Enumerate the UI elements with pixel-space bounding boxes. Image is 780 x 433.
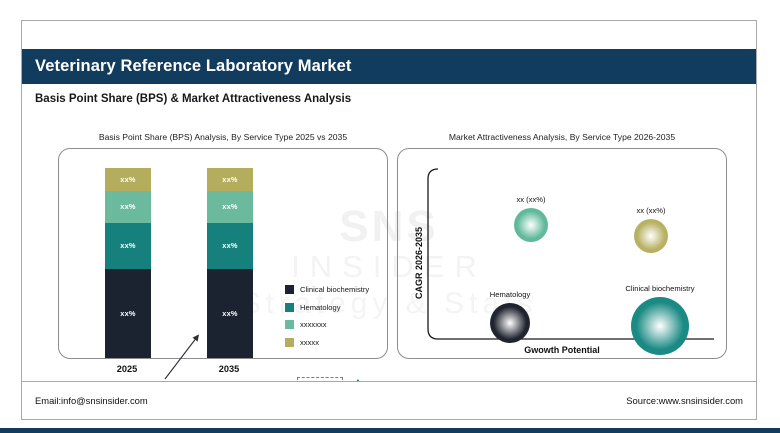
legend-label: Hematology <box>300 303 341 312</box>
legend-item[interactable]: xxxxxxx <box>285 320 369 329</box>
bubble-xxx-olive[interactable] <box>634 219 668 253</box>
left-chart-heading: Basis Point Share (BPS) Analysis, By Ser… <box>58 132 388 142</box>
bubble-xxx-green[interactable] <box>514 208 548 242</box>
y-axis-label: CAGR 2026-2035 <box>414 227 424 299</box>
bubble-label: Clinical biochemistry <box>625 284 694 293</box>
legend-item[interactable]: Hematology <box>285 303 369 312</box>
legend-swatch-icon <box>285 303 294 312</box>
bubble-hematology[interactable] <box>490 303 530 343</box>
legend-item[interactable]: Clinical biochemistry <box>285 285 369 294</box>
bar-segment: xx% <box>105 168 151 191</box>
bar-segment: xx% <box>105 223 151 269</box>
bar-segment: xx% <box>207 269 253 358</box>
footer-bar: Email:info@snsinsider.com Source:www.sns… <box>22 381 756 419</box>
bubble-chart: CAGR 2026-2035 Gwowth Potential xx (xx%)… <box>398 149 726 358</box>
attractiveness-chart-panel: CAGR 2026-2035 Gwowth Potential xx (xx%)… <box>397 148 727 359</box>
bar-segment: xx% <box>105 269 151 358</box>
bps-chart-panel: xx%xx%xx%xx% xx%xx%xx%xx% Clinical bioch… <box>58 148 388 359</box>
page-title: Veterinary Reference Laboratory Market <box>35 57 352 76</box>
page-subtitle: Basis Point Share (BPS) & Market Attract… <box>35 93 351 105</box>
legend-swatch-icon <box>285 338 294 347</box>
footer-email: Email:info@snsinsider.com <box>35 395 148 406</box>
bubble-label: xx (xx%) <box>516 195 545 204</box>
poster-frame: SNS INSIDER Strategy & Stats Veterinary … <box>21 20 757 420</box>
bar-segment: xx% <box>207 191 253 223</box>
legend-swatch-icon <box>285 320 294 329</box>
bar-segment: xx% <box>105 191 151 223</box>
title-bar: Veterinary Reference Laboratory Market <box>22 49 756 84</box>
bar-segment: xx% <box>207 223 253 269</box>
bar-segment: xx% <box>207 168 253 191</box>
legend-label: Clinical biochemistry <box>300 285 369 294</box>
legend-label: xxxxxxx <box>300 320 327 329</box>
bar-2035[interactable]: xx%xx%xx%xx% <box>207 168 253 358</box>
legend-label: xxxxx <box>300 338 319 347</box>
footer-source: Source:www.snsinsider.com <box>626 395 743 406</box>
bubble-label: Hematology <box>490 290 531 299</box>
bps-legend: Clinical biochemistry Hematology xxxxxxx… <box>285 285 369 355</box>
legend-swatch-icon <box>285 285 294 294</box>
bubble-label: xx (xx%) <box>636 206 665 215</box>
axis-label-2025: 2025 <box>104 364 150 374</box>
legend-item[interactable]: xxxxx <box>285 338 369 347</box>
right-chart-heading: Market Attractiveness Analysis, By Servi… <box>397 132 727 142</box>
bar-2025[interactable]: xx%xx%xx%xx% <box>105 168 151 358</box>
bubble-clinical-biochemistry[interactable] <box>631 297 689 355</box>
bottom-accent-strip <box>0 428 780 433</box>
growth-arrow-icon <box>159 329 205 385</box>
axis-label-2035: 2035 <box>206 364 252 374</box>
